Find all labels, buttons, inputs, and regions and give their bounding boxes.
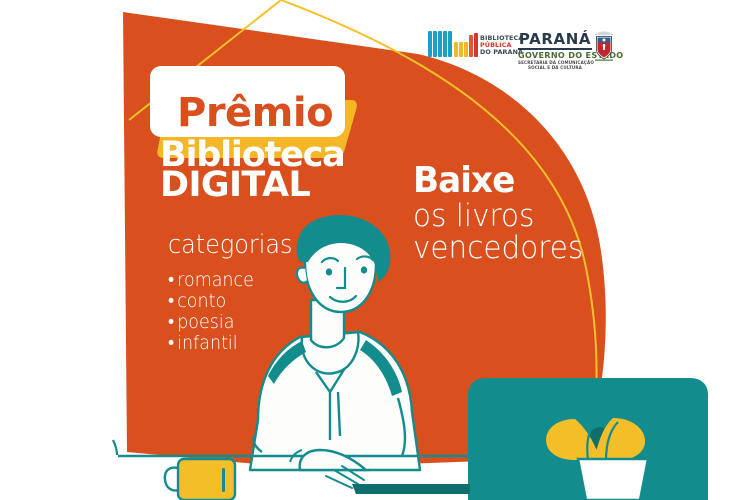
category-label: conto xyxy=(177,290,226,312)
list-item: •romance xyxy=(168,270,254,291)
plant-pot xyxy=(578,459,648,500)
bullet-icon: • xyxy=(168,291,177,312)
mug-highlight xyxy=(222,468,225,492)
parana-coat-of-arms-icon xyxy=(594,30,614,62)
list-item: •infantil xyxy=(168,333,254,354)
categories-heading: categorias xyxy=(168,230,293,260)
governo-do-estado-do-parana-logo: PARANÁ GOVERNO DO ESTADO SECRETARIA DA C… xyxy=(518,30,613,66)
library-logo-line3: DO PARANÁ xyxy=(480,49,523,56)
book-bar xyxy=(459,42,463,57)
government-state-name: PARANÁ xyxy=(518,32,592,47)
category-label: infantil xyxy=(177,332,237,354)
coffee-mug xyxy=(165,459,235,500)
biblioteca-publica-do-parana-logo: BIBLIOTECA PÚBLICA DO PARANÁ xyxy=(428,31,513,63)
bullet-icon: • xyxy=(168,312,177,333)
award-title-line2: DIGITAL xyxy=(160,165,310,205)
person-eye-left xyxy=(326,268,332,275)
book-bar xyxy=(474,33,478,57)
bullet-icon: • xyxy=(168,333,177,354)
desk-corner xyxy=(113,440,117,455)
poster-canvas: Prêmio Biblioteca DIGITAL categorias •ro… xyxy=(0,0,750,500)
poster-artwork xyxy=(0,0,750,500)
category-label: romance xyxy=(177,269,254,291)
list-item: •conto xyxy=(168,291,254,312)
book-bar xyxy=(448,31,452,57)
book-bars-icon xyxy=(428,31,478,57)
person-eye-right xyxy=(361,266,367,273)
book-bar xyxy=(464,42,468,57)
categories-list: •romance •conto •poesia •infantil xyxy=(168,270,261,354)
list-item: •poesia xyxy=(168,312,254,333)
cta-line1: Baixe xyxy=(413,160,514,201)
government-secretariat-line2: SOCIAL E DA CULTURA xyxy=(518,65,592,70)
government-entity: GOVERNO DO ESTADO xyxy=(518,51,592,60)
book-bar xyxy=(454,42,458,57)
book-bar xyxy=(443,31,447,57)
premio-kicker: Prêmio xyxy=(177,90,333,136)
book-bar xyxy=(433,31,437,57)
government-logo-text: PARANÁ GOVERNO DO ESTADO SECRETARIA DA C… xyxy=(518,32,592,70)
bullet-icon: • xyxy=(168,270,177,291)
book-bar xyxy=(438,31,442,57)
cta-line2: os livros xyxy=(413,198,534,234)
laptop-base xyxy=(352,484,470,494)
category-label: poesia xyxy=(177,311,234,333)
book-bar xyxy=(428,31,432,57)
cta-line3: vencedores xyxy=(413,230,583,266)
book-bar xyxy=(469,35,473,57)
library-logo-text: BIBLIOTECA PÚBLICA DO PARANÁ xyxy=(480,35,523,57)
